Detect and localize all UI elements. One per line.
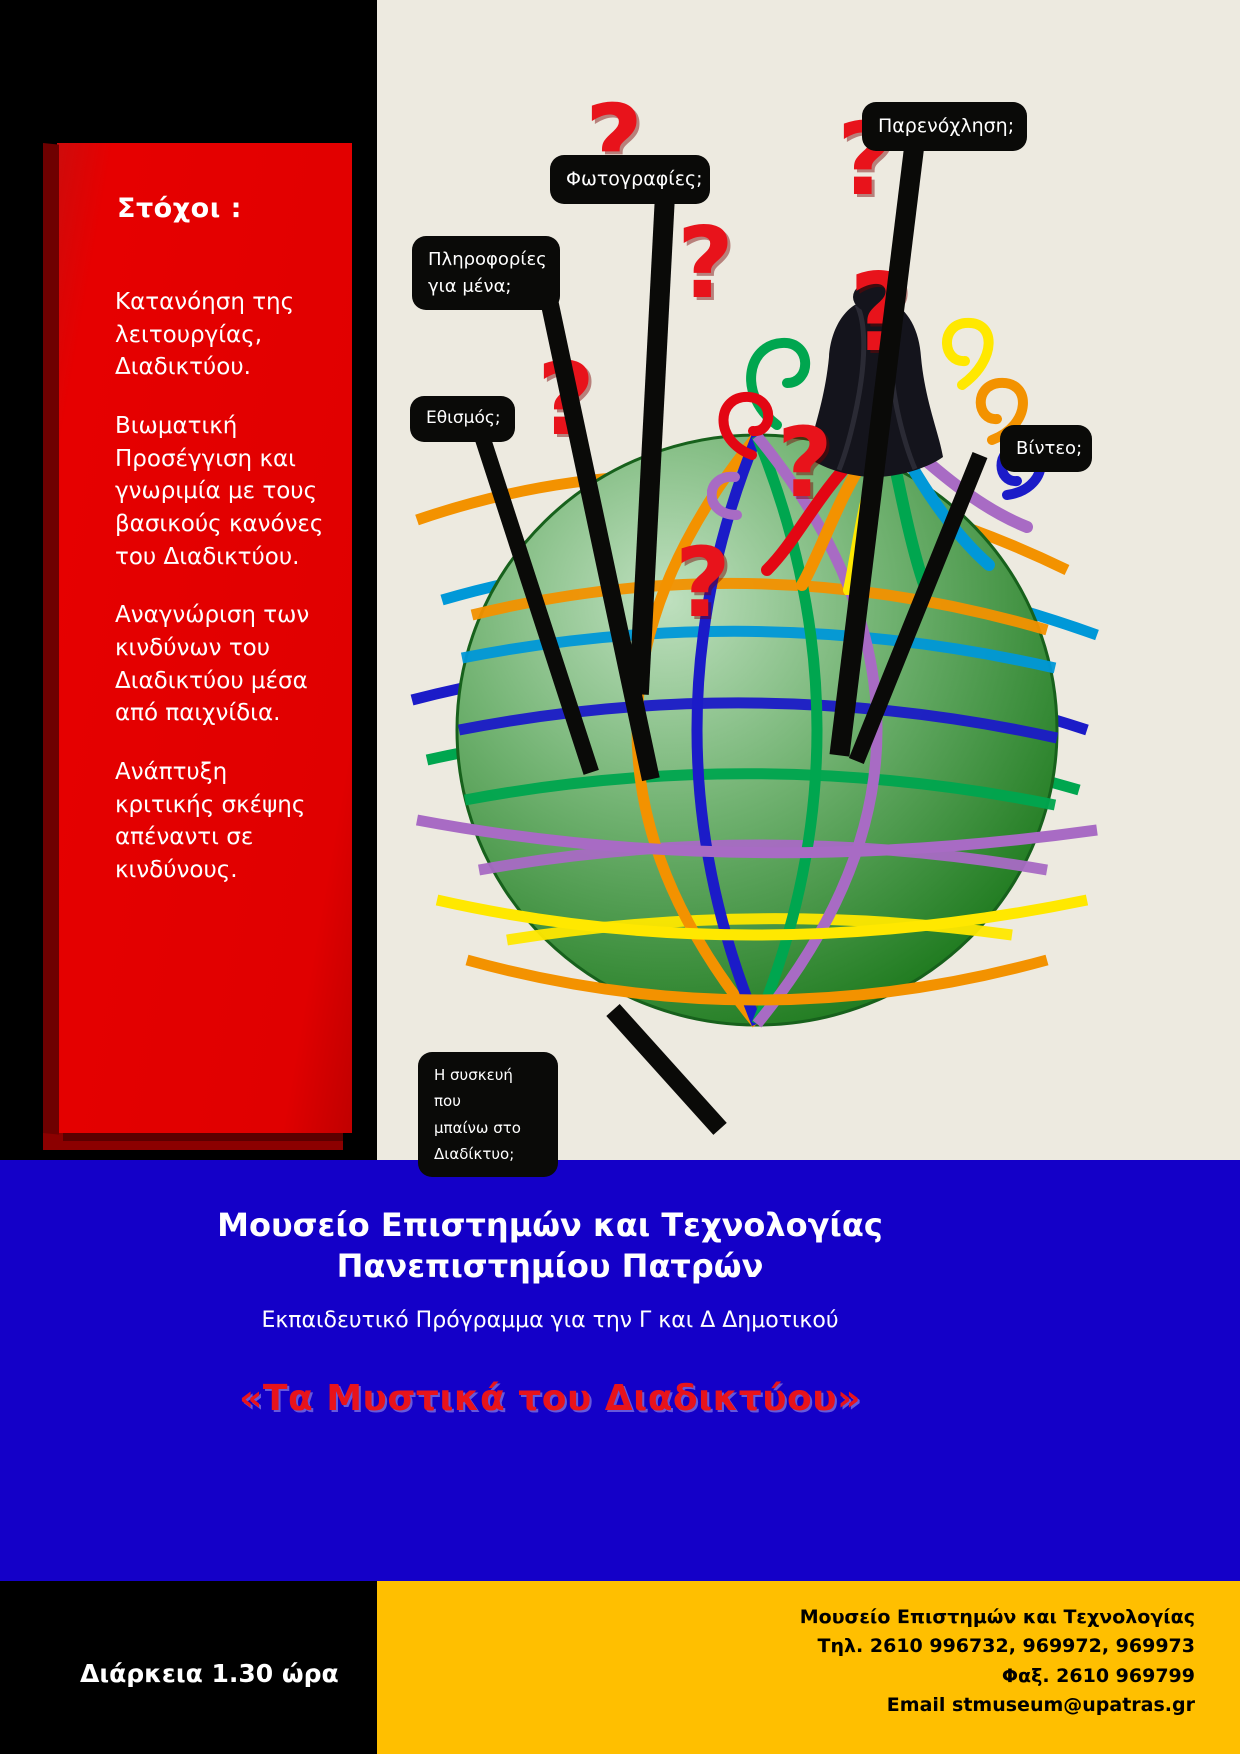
- bottom-bar: Διάρκεια 1.30 ώρα Μουσείο Επιστημών και …: [0, 1581, 1240, 1754]
- objective-item: Ανάπτυξη κριτικής σκέψης απέναντι σε κιν…: [115, 756, 330, 887]
- question-mark: ?: [675, 535, 731, 631]
- museum-footer: Μουσείο Επιστημών και Τεχνολογίας Πανεπι…: [0, 1160, 1240, 1581]
- contact-email[interactable]: Email stmuseum@upatras.gr: [377, 1691, 1195, 1720]
- bubble-device[interactable]: Η συσκευή που μπαίνω στο Διαδίκτυο;: [418, 1052, 558, 1177]
- bubble-video[interactable]: Βίντεο;: [1000, 425, 1092, 472]
- contact-box: Μουσείο Επιστημών και Τεχνολογίας Τηλ. 2…: [377, 1581, 1240, 1754]
- objective-item: Βιωματική Προσέγγιση και γνωριμία με του…: [115, 410, 330, 573]
- contact-line: Τηλ. 2610 996732, 969972, 969973: [377, 1632, 1195, 1661]
- main-illustration-area: ? ? ? ? ? ? ?: [377, 0, 1240, 1160]
- museum-title: Μουσείο Επιστημών και Τεχνολογίας Πανεπι…: [0, 1205, 1100, 1287]
- program-title: «Τα Μυστικά του Διαδικτύου»: [0, 1378, 1100, 1419]
- poster-root: ? ? ? ? ? ? ? Εθισμός; Πληροφορίες για μ…: [0, 0, 1240, 1754]
- objectives-list: Κατανόηση της λειτουργίας, Διαδικτύου. Β…: [115, 286, 330, 913]
- contact-line: Μουσείο Επιστημών και Τεχνολογίας: [377, 1603, 1195, 1632]
- objective-item: Κατανόηση της λειτουργίας, Διαδικτύου.: [115, 286, 330, 384]
- question-mark: ?: [677, 215, 734, 313]
- contact-line: Φαξ. 2610 969799: [377, 1662, 1195, 1691]
- bubble-addiction[interactable]: Εθισμός;: [410, 396, 515, 442]
- program-subtitle: Εκπαιδευτικό Πρόγραμμα για την Γ και Δ Δ…: [0, 1308, 1100, 1333]
- museum-title-line2: Πανεπιστημίου Πατρών: [0, 1246, 1100, 1287]
- question-mark: ?: [777, 415, 833, 511]
- objective-item: Αναγνώριση των κινδύνων του Διαδικτύου μ…: [115, 599, 330, 730]
- bubble-harassment[interactable]: Παρενόχληση;: [862, 102, 1027, 151]
- objectives-panel: Στόχοι : Κατανόηση της λειτουργίας, Διαδ…: [57, 143, 352, 1133]
- bubble-photos[interactable]: Φωτογραφίες;: [550, 155, 710, 204]
- objectives-heading: Στόχοι :: [117, 193, 242, 224]
- museum-title-line1: Μουσείο Επιστημών και Τεχνολογίας: [0, 1205, 1100, 1246]
- duration-label: Διάρκεια 1.30 ώρα: [80, 1659, 339, 1688]
- bubble-info-about-me[interactable]: Πληροφορίες για μένα;: [412, 236, 560, 310]
